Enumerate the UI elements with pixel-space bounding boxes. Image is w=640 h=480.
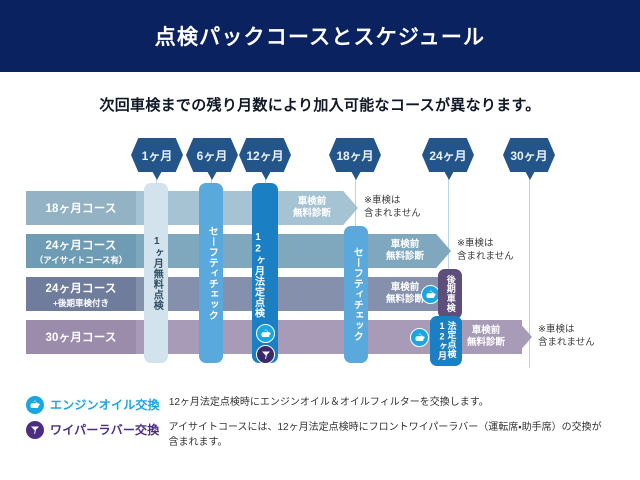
course-label-sub: （アイサイトコース有） bbox=[35, 254, 128, 266]
wiper-blade-icon bbox=[256, 345, 275, 364]
maintenance-schedule-page: 点検パックコースとスケジュール 次回車検までの残り月数により加入可能なコースが異… bbox=[0, 0, 640, 480]
wiper-blade-icon bbox=[26, 421, 44, 439]
milestone-label: 1ヶ月無料点検 bbox=[151, 236, 162, 311]
month-marker-tail-6m bbox=[207, 171, 217, 180]
pre-inspection-text: 車検前無料診断 bbox=[386, 282, 424, 306]
pre-inspection-diagnosis-row-4: 車検前無料診断 bbox=[450, 320, 532, 354]
pre-inspection-diagnosis-row-2: 車検前無料診断 bbox=[369, 234, 451, 268]
course-label-18m[interactable]: 18ヶ月コース bbox=[26, 191, 136, 225]
page-header: 点検パックコースとスケジュール bbox=[0, 0, 640, 72]
month-marker-18m: 18ヶ月 bbox=[329, 138, 381, 172]
pre-inspection-text: 車検前無料診断 bbox=[386, 239, 424, 263]
month-marker-label: 24ヶ月 bbox=[429, 147, 466, 164]
month-marker-12m: 12ヶ月 bbox=[239, 138, 291, 172]
legend-item-engine-oil: エンジンオイル交換 12ヶ月法定点検時にエンジンオイル＆オイルフィルターを交換し… bbox=[26, 396, 626, 414]
month-marker-tail-30m bbox=[525, 171, 535, 180]
milestone-label-pair: 法定点検 12ヶ月 bbox=[437, 321, 456, 360]
course-label-24m-eyesight[interactable]: 24ヶ月コース （アイサイトコース有） bbox=[26, 234, 136, 268]
course-label-main: 30ヶ月コース bbox=[45, 329, 116, 345]
month-marker-6m: 6ヶ月 bbox=[186, 138, 238, 172]
pre-inspection-text: 車検前無料診断 bbox=[467, 325, 505, 349]
legend-item-wiper-blade: ワイパーラバー交換 アイサイトコースには、12ヶ月法定点検時にフロントワイパーラ… bbox=[26, 421, 626, 450]
course-label-24m-late[interactable]: 24ヶ月コース +後期車検付き bbox=[26, 277, 136, 311]
month-marker-tail-12m bbox=[261, 171, 271, 180]
page-title: 点検パックコースとスケジュール bbox=[155, 21, 485, 51]
legend-title: エンジンオイル交換 bbox=[50, 396, 160, 413]
month-marker-label: 1ヶ月 bbox=[142, 147, 173, 164]
legend-description: 12ヶ月法定点検時にエンジンオイル＆オイルフィルターを交換します。 bbox=[169, 396, 489, 411]
pre-inspection-diagnosis-row-1: 車検前無料診断 bbox=[276, 191, 358, 225]
engine-oil-icon bbox=[410, 328, 429, 347]
milestone-label: セーフティチェック bbox=[206, 226, 217, 321]
course-label-30m[interactable]: 30ヶ月コース bbox=[26, 320, 136, 354]
course-label-sub: +後期車検付き bbox=[53, 297, 109, 309]
month-marker-label: 6ヶ月 bbox=[197, 147, 228, 164]
month-marker-label: 30ヶ月 bbox=[510, 147, 547, 164]
milestone-label-part-a: 法定点検 bbox=[446, 321, 455, 360]
legend-title: ワイパーラバー交換 bbox=[50, 421, 159, 438]
milestone-legal-inspection-30m: 法定点検 12ヶ月 bbox=[430, 316, 462, 366]
course-label-main: 24ヶ月コース bbox=[45, 280, 116, 296]
note-not-included-row-2: ※車検は 含まれません bbox=[457, 238, 514, 264]
month-marker-1m: 1ヶ月 bbox=[131, 138, 183, 172]
milestone-label: 12ヶ月法定点検 bbox=[252, 232, 263, 318]
month-marker-tail-18m bbox=[351, 171, 361, 180]
month-marker-label: 12ヶ月 bbox=[246, 147, 283, 164]
note-not-included-row-1: ※車検は 含まれません bbox=[364, 195, 421, 221]
month-marker-24m: 24ヶ月 bbox=[422, 138, 474, 172]
milestone-label: 後期車検 bbox=[445, 275, 454, 312]
milestone-safety-check-18m: セーフティチェック bbox=[344, 226, 368, 363]
milestone-1month-free-inspection: 1ヶ月無料点検 bbox=[144, 183, 168, 363]
legend: エンジンオイル交換 12ヶ月法定点検時にエンジンオイル＆オイルフィルターを交換し… bbox=[26, 396, 626, 457]
month-marker-tail-1m bbox=[152, 171, 162, 180]
engine-oil-icon bbox=[26, 396, 44, 414]
engine-oil-icon bbox=[256, 324, 275, 343]
note-not-included-row-4: ※車検は 含まれません bbox=[538, 324, 595, 350]
month-marker-label: 18ヶ月 bbox=[336, 147, 373, 164]
pre-inspection-text: 車検前無料診断 bbox=[293, 196, 331, 220]
milestone-late-shaken-24m: 後期車検 bbox=[438, 269, 462, 319]
milestone-safety-check-6m: セーフティチェック bbox=[199, 183, 223, 363]
page-subtitle: 次回車検までの残り月数により加入可能なコースが異なります。 bbox=[0, 94, 640, 115]
course-label-main: 18ヶ月コース bbox=[45, 200, 116, 216]
schedule-chart: 1ヶ月 6ヶ月 12ヶ月 18ヶ月 24ヶ月 30ヶ月 18ヶ月コース bbox=[0, 138, 640, 388]
legend-description: アイサイトコースには、12ヶ月法定点検時にフロントワイパーラバー（運転席・助手席… bbox=[168, 421, 608, 450]
milestone-label-part-b: 12ヶ月 bbox=[437, 321, 446, 360]
course-label-main: 24ヶ月コース bbox=[45, 237, 116, 253]
month-marker-tail-24m bbox=[444, 171, 454, 180]
milestone-label: セーフティチェック bbox=[351, 247, 362, 342]
month-marker-30m: 30ヶ月 bbox=[503, 138, 555, 172]
